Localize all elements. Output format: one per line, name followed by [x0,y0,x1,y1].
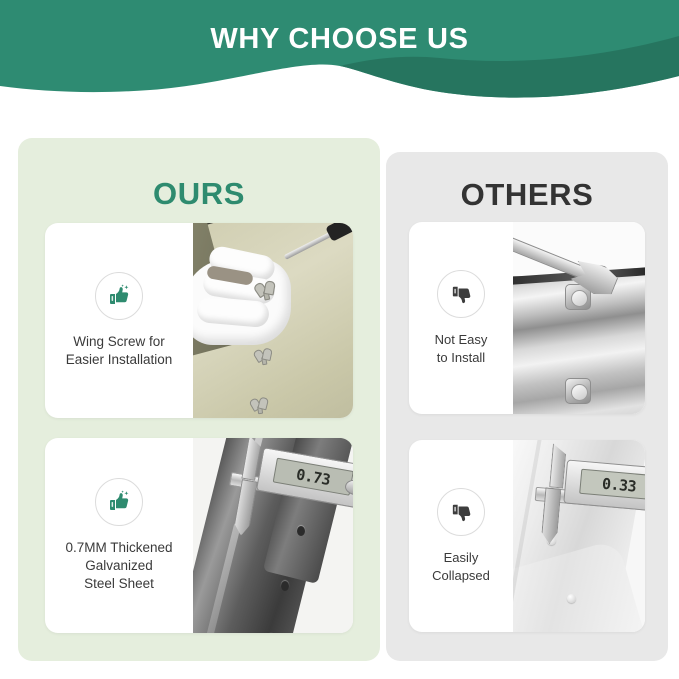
feature-card-text: Easily Collapsed [409,440,513,632]
thumbs-up-icon [95,272,143,320]
caliper-lcd-display: 0.73 [273,458,353,496]
caption-line: Easier Installation [66,351,173,369]
caption-line: 0.7MM Thickened [65,539,172,557]
caliper-lcd-display: 0.33 [579,469,645,501]
thumbs-down-icon [437,270,485,318]
feature-card-text: 0.7MM Thickened Galvanized Steel Sheet [45,438,193,633]
caliper-reading: 0.33 [601,474,637,495]
header-banner: WHY CHOOSE US [0,0,679,100]
caption-line: Wing Screw for [66,333,173,351]
caption-line: to Install [435,349,488,366]
caption-line: Easily [432,549,490,566]
column-heading-others: OTHERS [386,177,668,213]
caption-line: Galvanized [65,557,172,575]
thumbs-up-icon [95,478,143,526]
page-title: WHY CHOOSE US [0,23,679,56]
feature-card-others-1[interactable]: Not Easy to Install [409,222,645,414]
gloved-hand-installing-wing-screw-photo [193,223,353,418]
wrench-tightening-bolts-photo [513,222,645,414]
digital-caliper: 0.33 [529,450,645,546]
digital-caliper: 0.73 [223,442,353,538]
column-heading-ours: OURS [18,176,380,212]
caption-line: Steel Sheet [65,575,172,593]
feature-card-caption: Not Easy to Install [435,331,488,365]
caliper-measuring-dark-steel-photo: 0.73 [193,438,353,633]
feature-card-ours-2[interactable]: 0.7MM Thickened Galvanized Steel Sheet [45,438,353,633]
feature-card-caption: Wing Screw for Easier Installation [66,333,173,369]
caliper-measuring-white-gutter-photo: 0.33 [513,440,645,632]
infographic-page: WHY CHOOSE US OURS Wing Screw for [0,0,679,679]
caption-line: Collapsed [432,567,490,584]
feature-card-ours-1[interactable]: Wing Screw for Easier Installation [45,223,353,418]
column-ours: OURS Wing Screw for Easier Installation [18,138,380,661]
feature-card-caption: Easily Collapsed [432,549,490,583]
feature-card-others-2[interactable]: Easily Collapsed [409,440,645,632]
feature-card-text: Not Easy to Install [409,222,513,414]
thumbs-down-icon [437,488,485,536]
caliper-reading: 0.73 [295,465,332,489]
feature-card-text: Wing Screw for Easier Installation [45,223,193,418]
column-others: OTHERS Not Easy to Install [386,152,668,661]
caption-line: Not Easy [435,331,488,348]
feature-card-caption: 0.7MM Thickened Galvanized Steel Sheet [65,539,172,592]
